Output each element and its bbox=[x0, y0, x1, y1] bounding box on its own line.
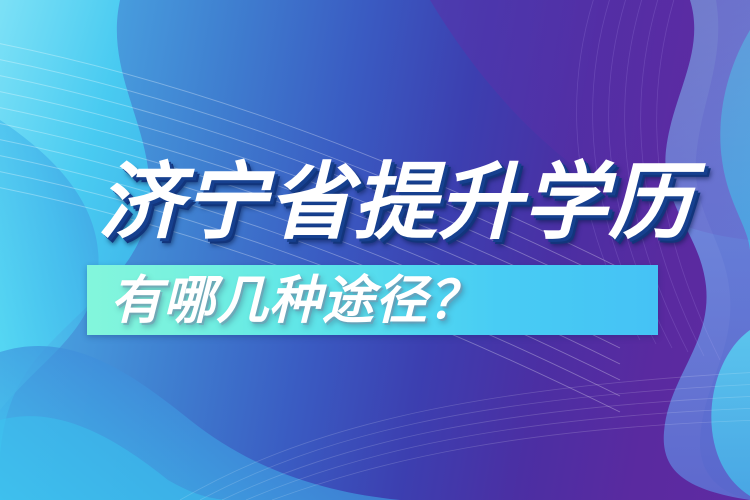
line-texture-overlay bbox=[0, 0, 750, 500]
promo-banner: 济宁省提升学历 有哪几种途径？ bbox=[0, 0, 750, 500]
